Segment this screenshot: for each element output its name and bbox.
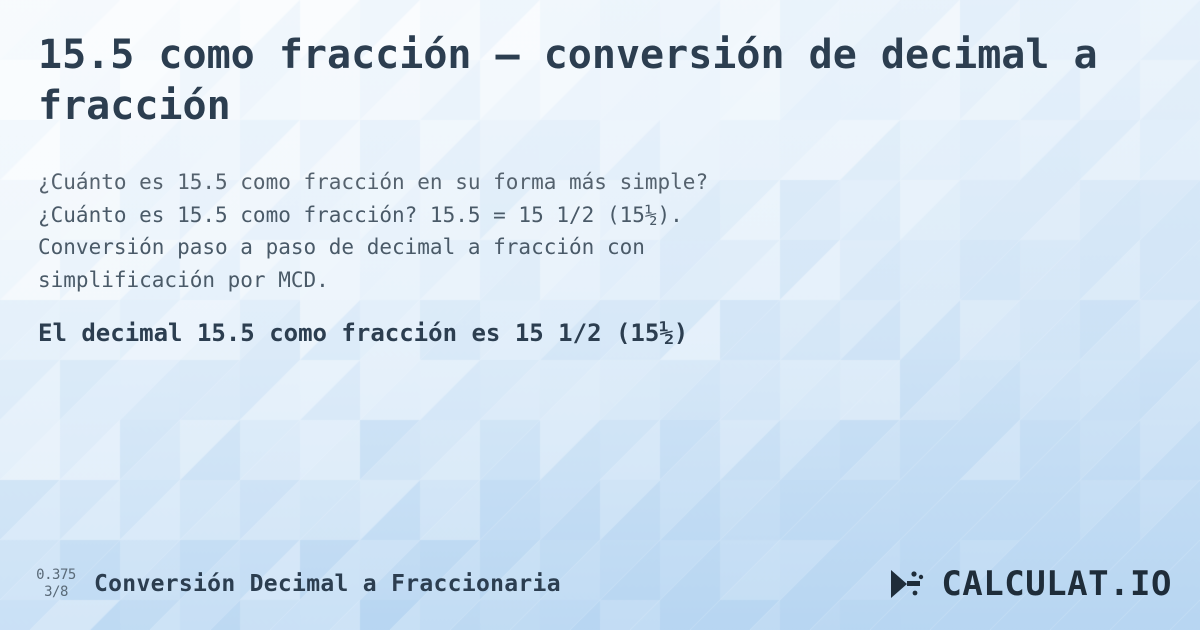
page-content: 15.5 como fracción – conversión de decim…	[0, 0, 1200, 630]
fraction-icon-numerator: 0.375	[36, 567, 76, 585]
page-summary: ¿Cuánto es 15.5 como fracción en su form…	[36, 166, 1078, 296]
summary-line-1: ¿Cuánto es 15.5 como fracción en su form…	[38, 166, 1078, 199]
brand-text: CALCULAT.IO	[941, 564, 1172, 604]
footer-left: 0.375 3/8 Conversión Decimal a Fracciona…	[24, 567, 561, 602]
calculator-arrow-icon	[887, 566, 933, 602]
summary-line-4: simplificación por MCD.	[38, 264, 1078, 297]
answer-statement: El decimal 15.5 como fracción es 15 1/2 …	[36, 319, 1164, 347]
summary-line-2: ¿Cuánto es 15.5 como fracción? 15.5 = 15…	[38, 199, 1078, 232]
fraction-icon-denominator: 3/8	[44, 584, 68, 602]
footer-title: Conversión Decimal a Fraccionaria	[94, 571, 561, 597]
fraction-icon: 0.375 3/8	[24, 567, 88, 602]
brand-logo[interactable]: CALCULAT.IO	[887, 564, 1172, 604]
footer: 0.375 3/8 Conversión Decimal a Fracciona…	[0, 538, 1200, 630]
page-title: 15.5 como fracción – conversión de decim…	[36, 30, 1098, 132]
summary-line-3: Conversión paso a paso de decimal a frac…	[38, 231, 1078, 264]
